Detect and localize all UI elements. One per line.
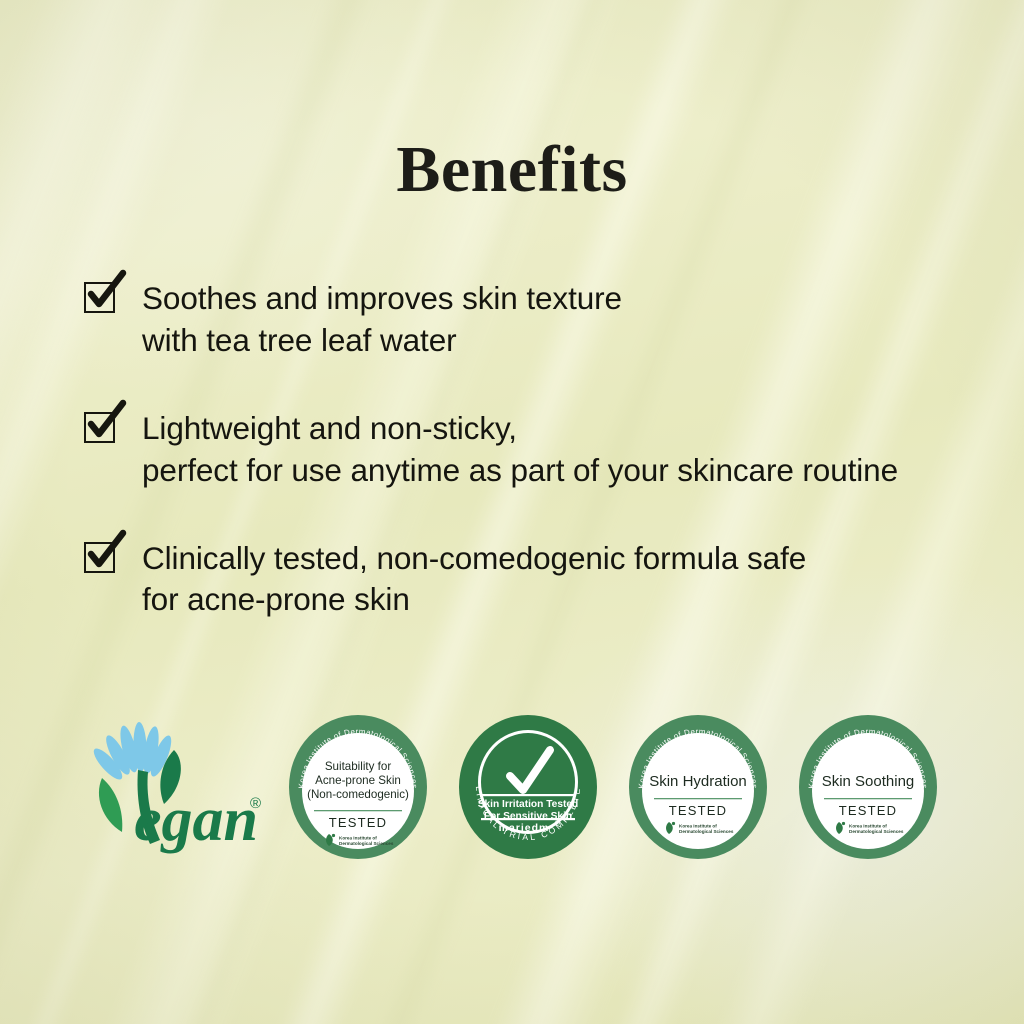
svg-text:Skin Hydration: Skin Hydration xyxy=(649,773,747,790)
registered-mark: ® xyxy=(250,795,261,812)
benefits-page: Benefits Soothes and improves skin textu… xyxy=(0,0,1024,1024)
svg-text:Dermatological Sciences: Dermatological Sciences xyxy=(339,841,394,846)
certification-badges: Korea Institute of Dermatological Scienc… xyxy=(288,714,948,860)
benefit-item: Soothes and improves skin texture with t… xyxy=(84,278,984,362)
page-title: Benefits xyxy=(0,132,1024,208)
svg-text:Korea Institute of: Korea Institute of xyxy=(339,836,377,841)
benefit-text: Lightweight and non-sticky, perfect for … xyxy=(142,408,984,492)
svg-text:TESTED: TESTED xyxy=(669,803,727,818)
svg-text:Suitability for: Suitability for xyxy=(325,760,392,773)
svg-text:Dermatological Sciences: Dermatological Sciences xyxy=(849,829,904,834)
svg-text:Dermatological Sciences: Dermatological Sciences xyxy=(679,829,734,834)
certification-badge: CLINICAL TRIAL COMPLETEDSkin Irritation … xyxy=(458,714,598,860)
svg-text:(Non-comedogenic): (Non-comedogenic) xyxy=(307,788,409,801)
svg-text:Korea Institute of: Korea Institute of xyxy=(679,824,717,829)
benefit-text: Soothes and improves skin texture with t… xyxy=(142,278,984,362)
vegan-logo: egan ® xyxy=(78,722,273,862)
benefit-text: Clinically tested, non-comedogenic formu… xyxy=(142,538,984,622)
benefit-item: Lightweight and non-sticky, perfect for … xyxy=(84,408,984,492)
checkbox-checked-icon xyxy=(84,282,115,313)
svg-text:Korea Institute of: Korea Institute of xyxy=(849,824,887,829)
certification-badge: Korea Institute of Dermatological Scienc… xyxy=(288,714,428,860)
svg-text:TESTED: TESTED xyxy=(839,803,897,818)
svg-text:Skin Irritation Tested: Skin Irritation Tested xyxy=(478,799,579,810)
benefit-item: Clinically tested, non-comedogenic formu… xyxy=(84,538,984,622)
benefits-list: Soothes and improves skin texture with t… xyxy=(84,278,984,667)
vegan-wordmark: egan xyxy=(134,786,258,854)
certification-badge: Korea Institute of Dermatological Scienc… xyxy=(628,714,768,860)
checkbox-checked-icon xyxy=(84,412,115,443)
checkbox-checked-icon xyxy=(84,542,115,573)
svg-text:Acne-prone Skin: Acne-prone Skin xyxy=(315,774,401,787)
svg-text:Skin Soothing: Skin Soothing xyxy=(822,773,915,790)
svg-text:mariedm: mariedm xyxy=(499,822,550,834)
svg-text:TESTED: TESTED xyxy=(329,815,387,830)
svg-text:®: ® xyxy=(555,820,560,827)
certification-badge: Korea Institute of Dermatological Scienc… xyxy=(798,714,938,860)
